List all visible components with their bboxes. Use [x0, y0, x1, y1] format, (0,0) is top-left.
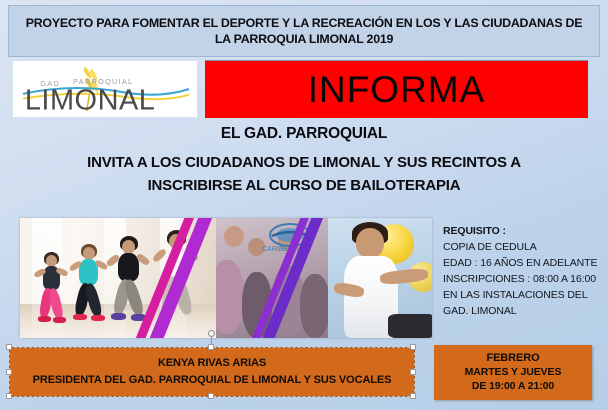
header-title-bar: PROYECTO PARA FOMENTAR EL DEPORTE Y LA R…: [8, 5, 600, 57]
requisito-line-0: REQUISITO :: [443, 224, 603, 240]
informa-text: INFORMA: [308, 71, 486, 108]
selection-handle-bl[interactable]: [6, 393, 12, 399]
signature-text-box[interactable]: KENYA RIVAS ARIAS PRESIDENTA DEL GAD. PA…: [10, 348, 414, 396]
schedule-hours: DE 19:00 A 21:00: [472, 380, 554, 393]
schedule-month: FEBRERO: [486, 352, 539, 366]
header-title-line-1: PROYECTO PARA FOMENTAR EL DEPORTE Y LA R…: [26, 16, 583, 30]
header-title-line-2: LA PARROQUIA LIMONAL 2019: [215, 32, 393, 46]
selection-handle-br[interactable]: [410, 393, 416, 399]
gad-parroquial-limonal-logo: GAD PARROQUIAL LIMONAL: [12, 60, 198, 118]
selection-handle-tc[interactable]: [208, 344, 214, 350]
selection-handle-mr[interactable]: [410, 369, 416, 375]
logo-wordmark: LIMONAL: [25, 84, 156, 116]
informa-banner: INFORMA: [205, 60, 588, 118]
requisito-line-1: COPIA DE CEDULA: [443, 240, 603, 256]
schedule-text-box[interactable]: FEBRERO MARTES Y JUEVES DE 19:00 A 21:00: [434, 345, 592, 400]
headline-line-3: INSCRIBIRSE AL CURSO DE BAILOTERAPIA: [0, 176, 608, 196]
signature-role: PRESIDENTA DEL GAD. PARROQUIAL DE LIMONA…: [33, 374, 392, 388]
rotation-handle[interactable]: [208, 330, 215, 337]
flyer-slide: PROYECTO PARA FOMENTAR EL DEPORTE Y LA R…: [0, 0, 608, 410]
schedule-days: MARTES Y JUEVES: [465, 366, 562, 379]
photo-left-zumba: [20, 218, 216, 338]
requisito-line-5: GAD. LIMONAL: [443, 304, 603, 320]
selection-handle-bc[interactable]: [208, 393, 214, 399]
photo-collage: CARIBE Anglo: [20, 218, 432, 338]
requisito-block: REQUISITO : COPIA DE CEDULA EDAD : 16 AÑ…: [443, 224, 603, 320]
photo-middle-group-class: CARIBE Anglo: [216, 218, 328, 338]
photo-right-man: [328, 218, 432, 338]
logo-svg: GAD PARROQUIAL LIMONAL: [13, 61, 197, 117]
requisito-line-4: EN LAS INSTALACIONES DEL: [443, 288, 603, 304]
requisito-line-2: EDAD : 16 AÑOS EN ADELANTE: [443, 256, 603, 272]
headline-block: EL GAD. PARROQUIAL INVITA A LOS CIUDADAN…: [0, 124, 608, 196]
signature-name: KENYA RIVAS ARIAS: [158, 357, 266, 371]
headline-line-1: EL GAD. PARROQUIAL: [0, 124, 608, 143]
selection-handle-tr[interactable]: [410, 344, 416, 350]
selection-handle-ml[interactable]: [6, 369, 12, 375]
headline-line-2: INVITA A LOS CIUDADANOS DE LIMONAL Y SUS…: [0, 153, 608, 173]
requisito-line-3: INSCRIPCIONES : 08:00 A 16:00: [443, 272, 603, 288]
selection-handle-tl[interactable]: [6, 344, 12, 350]
